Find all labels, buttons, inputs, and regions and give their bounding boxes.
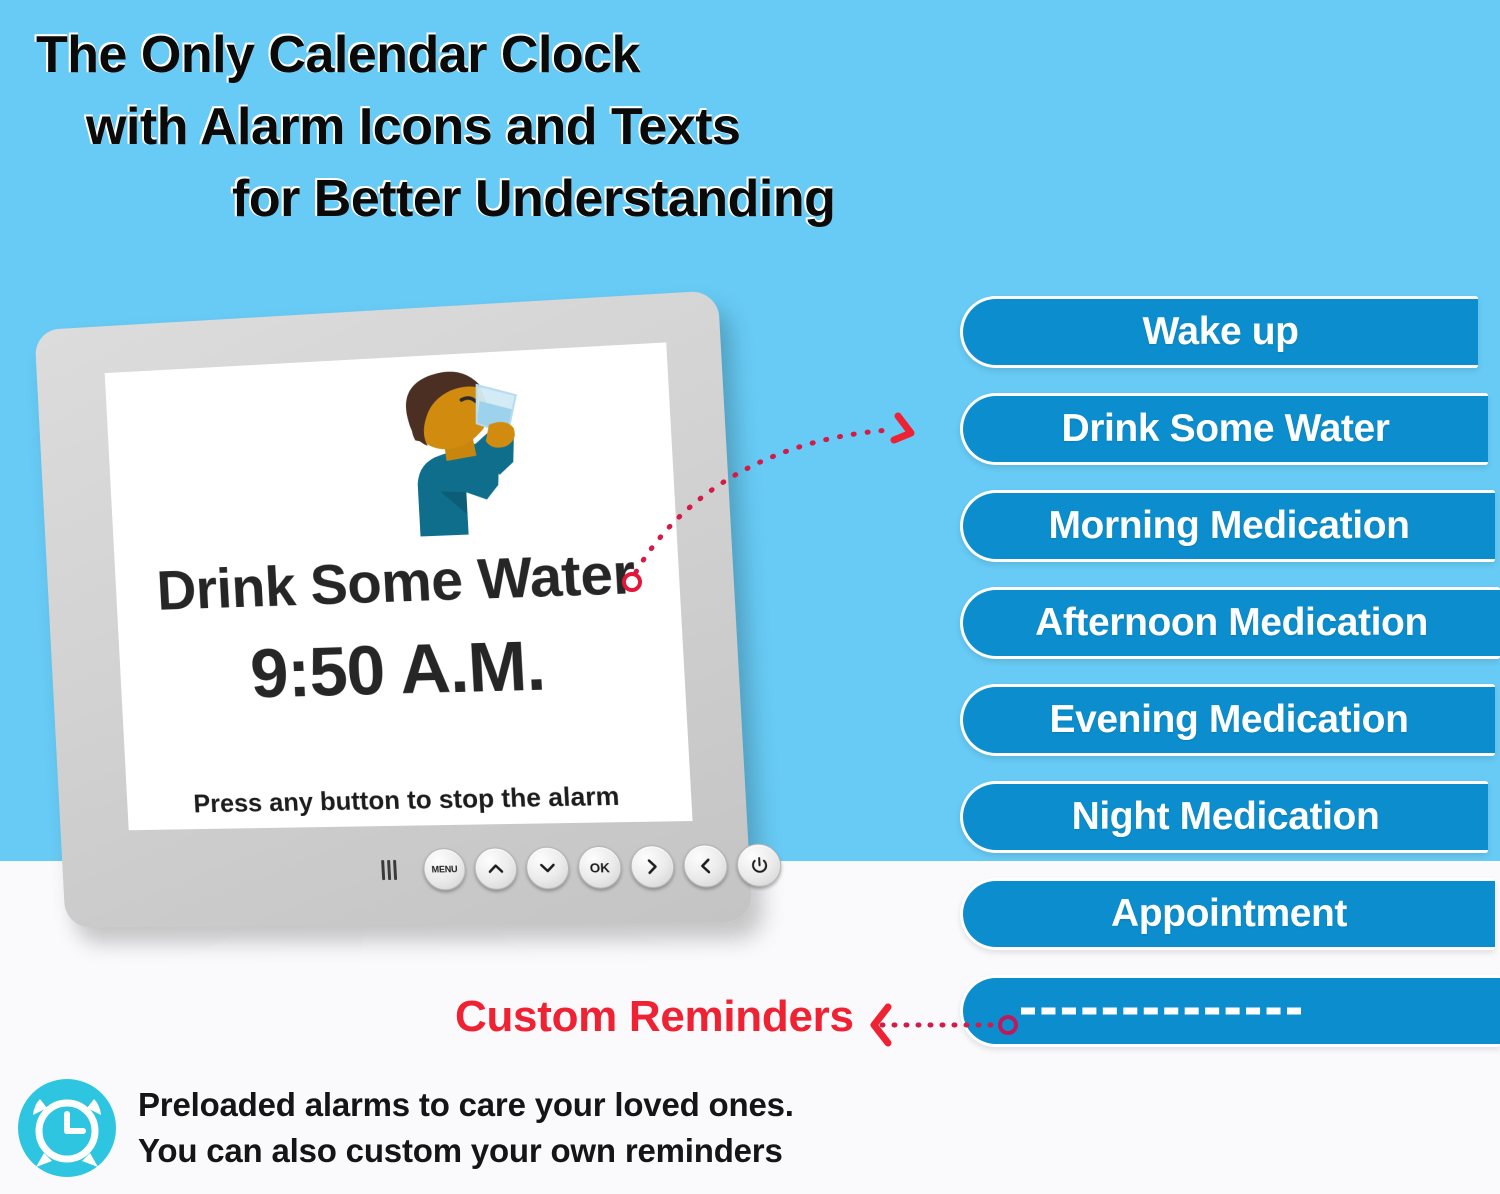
alarm-list-item[interactable]: Wake up (960, 296, 1478, 368)
alarm-label: Afternoon Medication (1035, 601, 1428, 645)
person-drinking-water-icon (368, 360, 548, 539)
calendar-clock-device: Drink Some Water 9:50 A.M. Press any but… (20, 290, 760, 980)
right-button[interactable] (630, 845, 676, 888)
alarm-list-item[interactable]: Appointment (960, 878, 1495, 950)
device-screen: Drink Some Water 9:50 A.M. Press any but… (105, 342, 693, 830)
alarm-hint: Press any button to stop the alarm (127, 779, 692, 820)
headline-line-1: The Only Calendar Clock (0, 20, 1060, 92)
menu-button[interactable]: MENU (422, 848, 466, 891)
alarm-label: Appointment (1111, 892, 1347, 936)
alarm-time: 9:50 A.M. (119, 620, 686, 716)
footer-line-1: Preloaded alarms to care your loved ones… (138, 1082, 794, 1128)
chevron-up-icon (486, 859, 505, 877)
custom-reminders-label: Custom Reminders (455, 992, 854, 1042)
alarm-list-item-custom[interactable] (960, 975, 1500, 1047)
chevron-down-icon (538, 859, 557, 877)
alarm-list-item[interactable]: Evening Medication (960, 684, 1495, 756)
footer-note: Preloaded alarms to care your loved ones… (14, 1075, 794, 1181)
down-button[interactable] (525, 846, 570, 889)
device-button-row: MENU OK (381, 843, 783, 891)
headline-line-2: with Alarm Icons and Texts (0, 92, 1060, 164)
alarm-list-item[interactable]: Drink Some Water (960, 393, 1488, 465)
ok-button[interactable]: OK (577, 846, 623, 889)
alarm-label: Evening Medication (1049, 698, 1408, 742)
power-icon (748, 855, 769, 875)
promo-banner: The Only Calendar Clock with Alarm Icons… (0, 0, 1500, 1194)
power-button[interactable] (736, 843, 783, 887)
page-title: The Only Calendar Clock with Alarm Icons… (0, 20, 1060, 235)
alarm-list-item[interactable]: Afternoon Medication (960, 587, 1500, 659)
alarm-label: Wake up (1142, 310, 1298, 354)
custom-placeholder-dashes (1021, 1008, 1301, 1015)
alarm-list-item[interactable]: Night Medication (960, 781, 1488, 853)
alarm-clock-icon (14, 1075, 120, 1181)
left-button[interactable] (682, 844, 728, 888)
alarm-label: Drink Some Water (1061, 407, 1389, 451)
alarm-label: Night Medication (1072, 795, 1380, 839)
speaker-grille-icon (381, 860, 397, 880)
up-button[interactable] (473, 847, 518, 890)
alarm-title: Drink Some Water (115, 539, 681, 625)
alarm-list-item[interactable]: Morning Medication (960, 490, 1495, 562)
chevron-left-icon (696, 857, 716, 876)
device-frame: Drink Some Water 9:50 A.M. Press any but… (34, 290, 752, 927)
footer-line-2: You can also custom your own reminders (138, 1128, 794, 1174)
alarm-label: Morning Medication (1048, 504, 1409, 548)
chevron-right-icon (643, 857, 663, 876)
headline-line-3: for Better Understanding (0, 164, 1060, 236)
alarm-list: Wake up Drink Some Water Morning Medicat… (960, 296, 1500, 1072)
